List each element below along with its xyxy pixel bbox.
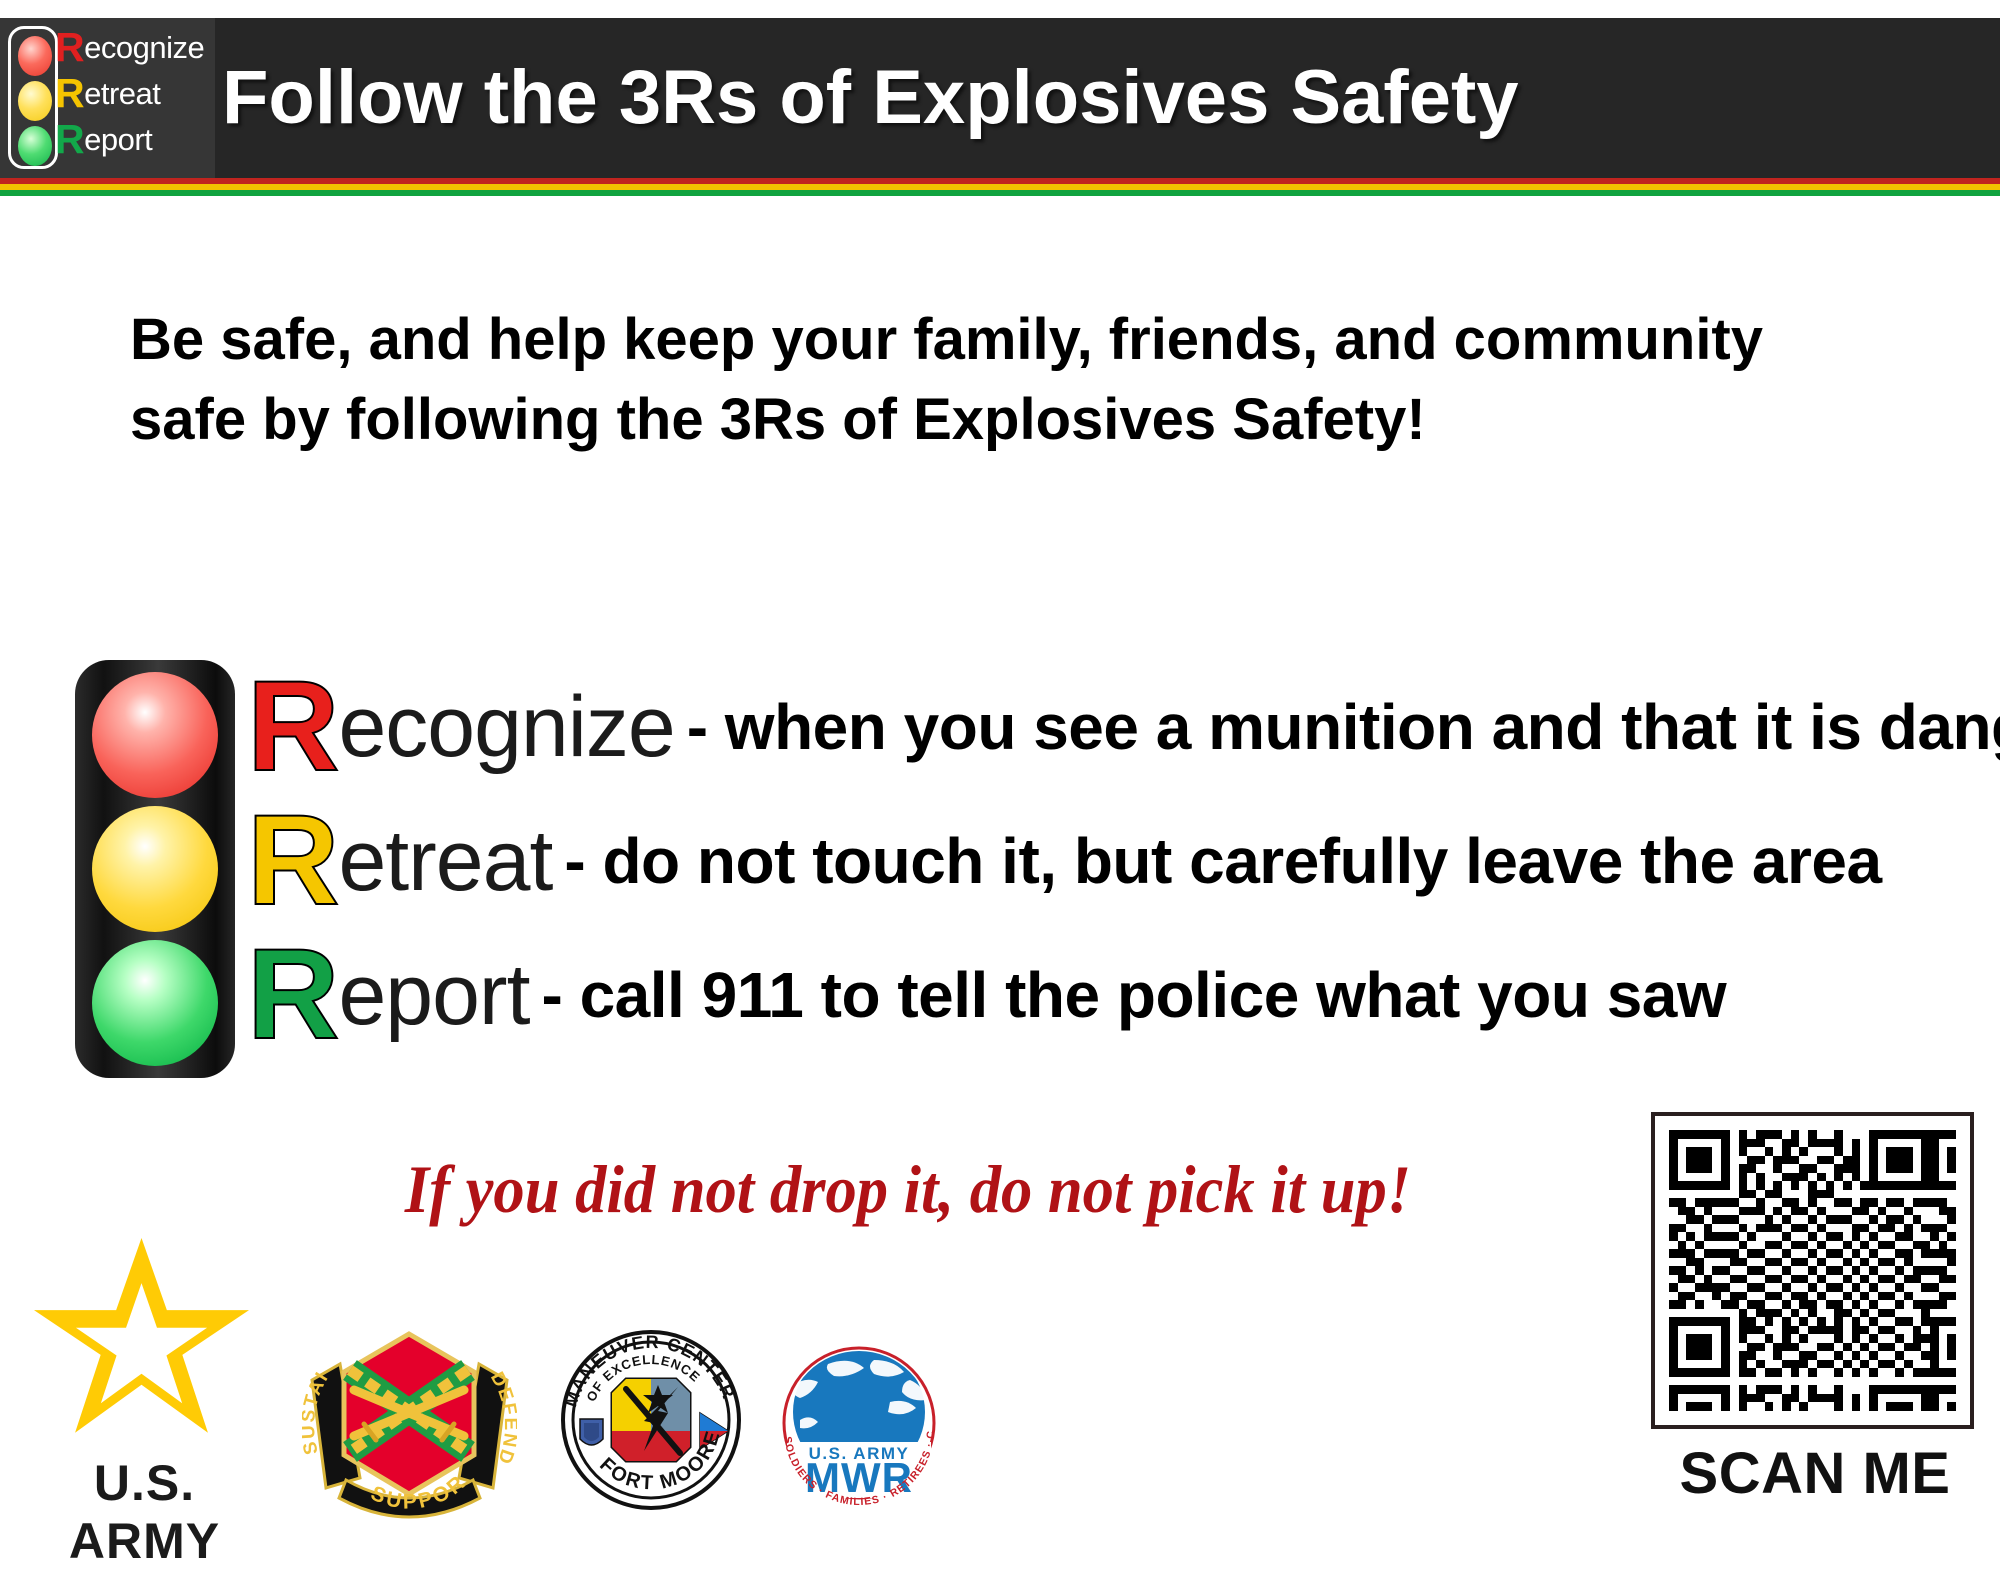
rule-cap-retreat: R (247, 789, 338, 932)
logo-cap-r1: R (55, 24, 84, 70)
logo-rest-2: etreat (84, 76, 160, 111)
qr-grid (1669, 1130, 1956, 1411)
imcom-crest-logo: SUSTAIN DEFEND SUPPORT (302, 1310, 517, 1525)
rule-rest-report: eport (338, 947, 529, 1043)
logo-cap-r2: R (55, 70, 84, 116)
logo-rest-1: ecognize (84, 30, 204, 65)
army-star-icon (34, 1238, 249, 1443)
rule-word-recognize: Recognize (247, 662, 675, 792)
rule-desc-retreat: - do not touch it, but carefully leave t… (552, 796, 1881, 926)
red-light-large (92, 672, 218, 798)
tagline: If you did not drop it, do not pick it u… (310, 1150, 1506, 1229)
rule-desc-report: - call 911 to tell the police what you s… (529, 930, 1726, 1060)
green-light-large (92, 940, 218, 1066)
army-mwr-logo: U.S. ARMY MWR SOLDIERS · FAMILIES · RETI… (770, 1334, 948, 1512)
intro-text: Be safe, and help keep your family, frie… (130, 300, 1930, 460)
logo-word-recognize: Recognize (55, 24, 215, 70)
traffic-light-icon-small (8, 26, 58, 169)
logo-word-report: Report (55, 116, 215, 162)
rule-row-report: Report- call 911 to tell the police what… (247, 930, 1726, 1060)
rule-row-retreat: Retreat- do not touch it, but carefully … (247, 796, 1882, 926)
us-army-logo: U.S. ARMY (12, 1238, 277, 1538)
rule-word-retreat: Retreat (247, 796, 552, 926)
army-wordmark: U.S. ARMY (12, 1454, 277, 1570)
yellow-light-large (92, 806, 218, 932)
logo-cap-r3: R (55, 116, 84, 162)
header-band: Recognize Retreat Report Follow the 3Rs … (0, 18, 2000, 178)
red-light-small (18, 36, 52, 76)
qr-code[interactable] (1651, 1112, 1974, 1429)
scan-me-label: SCAN ME (1640, 1440, 1990, 1507)
yellow-light-small (18, 81, 52, 121)
green-light-small (18, 126, 52, 166)
rule-word-report: Report (247, 930, 529, 1060)
rule-desc-recognize: - when you see a munition and that it is… (675, 662, 2000, 792)
rule-row-recognize: Recognize- when you see a munition and t… (247, 662, 2000, 792)
three-rs-logo: Recognize Retreat Report (0, 18, 215, 178)
intro-line-2: safe by following the 3Rs of Explosives … (130, 380, 1930, 460)
intro-line-1: Be safe, and help keep your family, frie… (130, 300, 1930, 380)
rule-cap-report: R (247, 923, 338, 1066)
stripe-green (0, 190, 2000, 196)
three-rs-block: Recognize- when you see a munition and t… (75, 660, 1975, 1080)
logo-words: Recognize Retreat Report (55, 24, 215, 162)
imcom-crest-icon: SUSTAIN DEFEND SUPPORT (302, 1310, 517, 1525)
mcoe-fort-moore-logo: MANEUVER CENTER OF EXCELLENCE FORT MOORE (558, 1327, 744, 1513)
rule-rest-recognize: ecognize (338, 679, 674, 775)
mwr-icon: U.S. ARMY MWR SOLDIERS · FAMILIES · RETI… (770, 1334, 948, 1512)
rule-rest-retreat: etreat (338, 813, 552, 909)
rule-cap-recognize: R (247, 655, 338, 798)
traffic-light-icon-large (75, 660, 235, 1078)
mcoe-icon: MANEUVER CENTER OF EXCELLENCE FORT MOORE (558, 1327, 744, 1513)
logo-rest-3: eport (84, 122, 152, 157)
page-title: Follow the 3Rs of Explosives Safety (222, 18, 1519, 178)
logo-word-retreat: Retreat (55, 70, 215, 116)
